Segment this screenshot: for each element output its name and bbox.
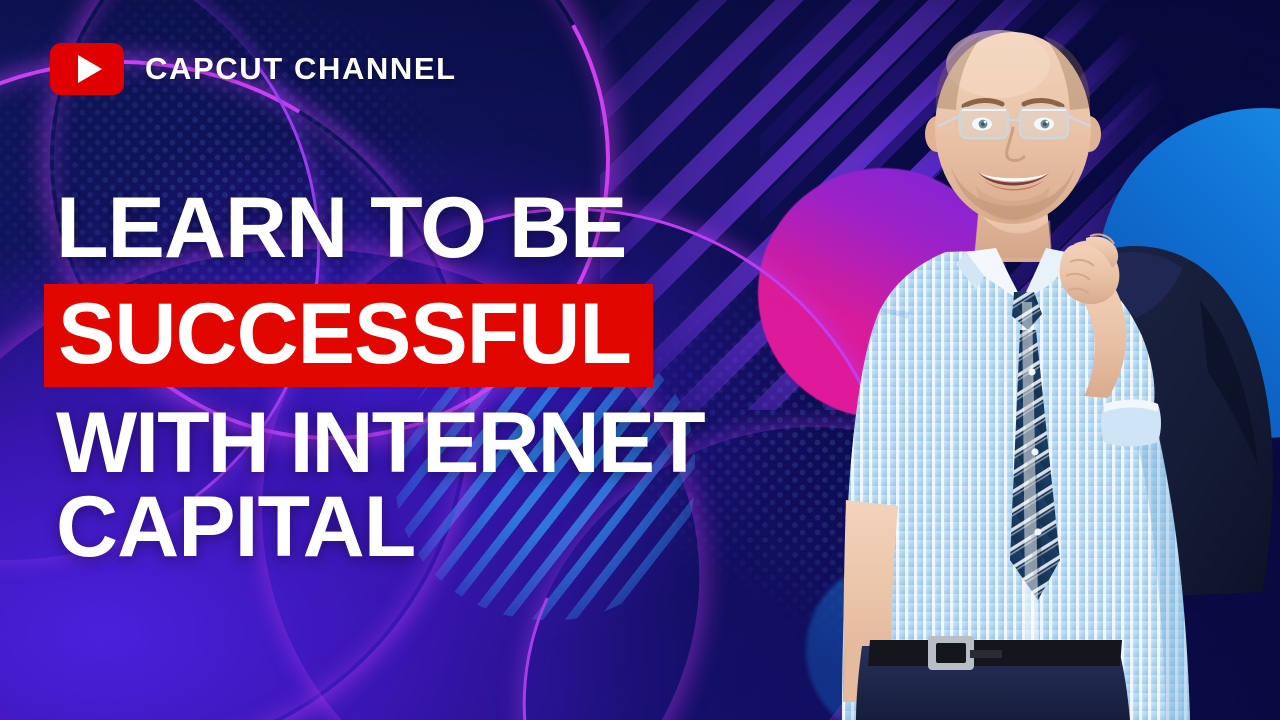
channel-header: CAPCUT CHANNEL	[50, 43, 457, 95]
person-photo	[770, 0, 1280, 720]
headline-block: LEARN TO BE SUCCESSFUL WITH INTERNET CAP…	[56, 186, 704, 569]
headline-line-3: WITH INTERNET	[56, 401, 704, 485]
headline-line-2-highlight: SUCCESSFUL	[44, 284, 653, 386]
youtube-play-icon[interactable]	[50, 43, 124, 95]
play-triangle-icon	[78, 55, 102, 83]
headline-line-1: LEARN TO BE	[56, 186, 626, 270]
headline-line-4: CAPITAL	[56, 485, 415, 569]
youtube-thumbnail: CAPCUT CHANNEL LEARN TO BE SUCCESSFUL WI…	[0, 0, 1280, 720]
channel-name: CAPCUT CHANNEL	[145, 51, 457, 87]
